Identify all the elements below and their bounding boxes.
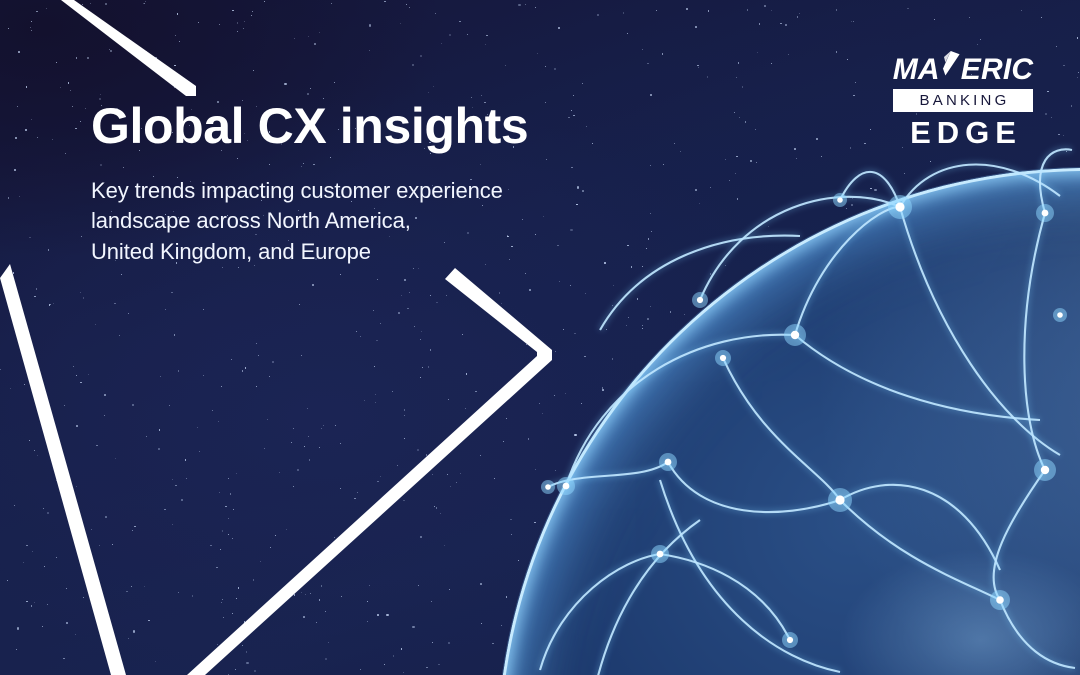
page-subtitle: Key trends impacting customer experience… xyxy=(91,176,691,267)
triangle-v-mark-icon xyxy=(941,54,960,79)
brand-logo[interactable]: MA ERIC BANKING EDGE xyxy=(893,52,1033,148)
logo-maveric-wordmark: MA ERIC xyxy=(893,52,1033,86)
left-diagonal-line xyxy=(0,264,126,675)
chevron-right xyxy=(187,268,552,675)
top-diagonal-line xyxy=(61,0,196,96)
subtitle-line-2: landscape across North America, xyxy=(91,206,691,236)
logo-maveric-prefix: MA xyxy=(893,55,940,85)
subtitle-line-3: United Kingdom, and Europe xyxy=(91,237,691,267)
logo-banking-text: BANKING xyxy=(917,93,1010,108)
logo-edge-row: EDGE xyxy=(893,117,1033,148)
logo-maveric-suffix: ERIC xyxy=(961,55,1033,85)
page-title: Global CX insights xyxy=(91,100,711,153)
subtitle-line-1: Key trends impacting customer experience xyxy=(91,176,691,206)
logo-edge-text: EDGE xyxy=(904,117,1022,148)
logo-banking-bar: BANKING xyxy=(893,89,1033,112)
logo-maveric-text: MA ERIC xyxy=(893,54,1034,85)
banner-canvas: Global CX insights Key trends impacting … xyxy=(0,0,1080,675)
